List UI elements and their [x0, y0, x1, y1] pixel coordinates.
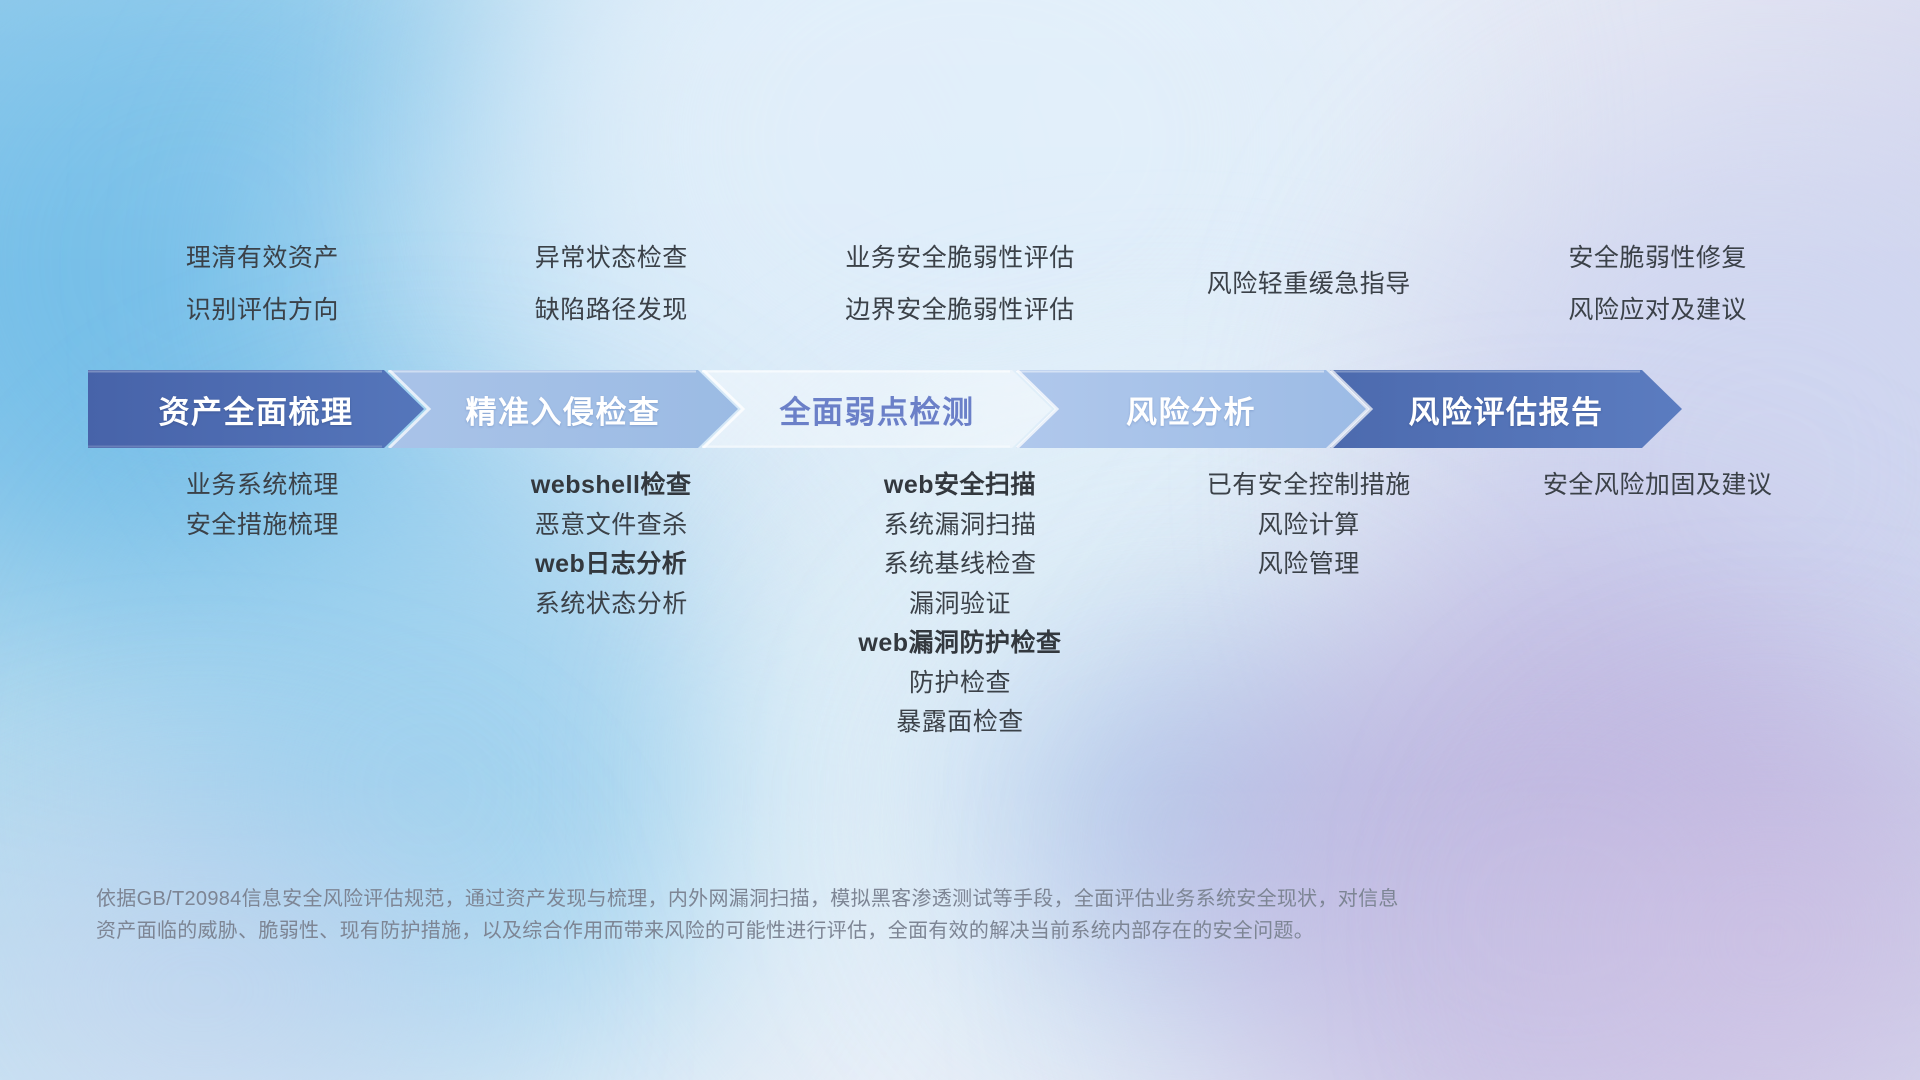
stage-1-bottom-item: 安全措施梳理	[186, 506, 339, 546]
stage-arrow-5-label: 风险评估报告	[1409, 387, 1604, 432]
stage-1-bottom-item: 业务系统梳理	[186, 466, 339, 506]
stage-3-top-item: 业务安全脆弱性评估	[845, 232, 1075, 284]
stage-arrow-4-label: 风险分析	[1126, 387, 1256, 432]
stage-1-bottom-list: 业务系统梳理 安全措施梳理	[88, 466, 437, 545]
stage-4-bottom-item: 风险计算	[1258, 506, 1360, 546]
stage-2-bottom-list: webshell检查 恶意文件查杀 web日志分析 系统状态分析	[437, 466, 786, 624]
stage-4-bottom-list: 已有安全控制措施 风险计算 风险管理	[1134, 466, 1483, 585]
stage-3-bottom-item: 暴露面检查	[896, 703, 1024, 743]
stage-2-top-list: 异常状态检查 缺陷路径发现	[437, 232, 786, 358]
footer-description: 依据GB/T20984信息安全风险评估规范，通过资产发现与梳理，内外网漏洞扫描，…	[96, 883, 1616, 947]
stage-3-top-list: 业务安全脆弱性评估 边界安全脆弱性评估	[786, 232, 1135, 358]
stage-arrow-2[interactable]: 精准入侵检查	[388, 370, 738, 448]
stage-2-bottom-item: webshell检查	[531, 466, 692, 506]
stage-3-top-item: 边界安全脆弱性评估	[845, 284, 1075, 336]
stage-arrow-1[interactable]: 资产全面梳理	[88, 370, 424, 448]
stage-1-top-list: 理清有效资产 识别评估方向	[88, 232, 437, 358]
stage-2-top-item: 异常状态检查	[535, 232, 688, 284]
stage-1-top-item: 理清有效资产	[186, 232, 339, 284]
stage-5-top-list: 安全脆弱性修复 风险应对及建议	[1483, 232, 1832, 358]
stage-2-bottom-item: 恶意文件查杀	[535, 506, 688, 546]
stage-4-bottom-item: 风险管理	[1258, 545, 1360, 585]
stage-arrow-4[interactable]: 风险分析	[1016, 370, 1366, 448]
stage-3-bottom-item: 漏洞验证	[909, 585, 1011, 625]
process-arrow-band: 资产全面梳理 精准入侵检查	[88, 370, 1832, 448]
stage-5-top-item: 风险应对及建议	[1568, 284, 1747, 336]
footer-line-1: 依据GB/T20984信息安全风险评估规范，通过资产发现与梳理，内外网漏洞扫描，…	[96, 883, 1616, 915]
stage-2-bottom-item: web日志分析	[535, 545, 687, 585]
stage-arrow-3[interactable]: 全面弱点检测	[702, 370, 1052, 448]
stage-3-bottom-item: web安全扫描	[884, 466, 1036, 506]
footer-line-2: 资产面临的威胁、脆弱性、现有防护措施，以及综合作用而带来风险的可能性进行评估，全…	[96, 915, 1616, 947]
stage-3-bottom-item: 防护检查	[909, 664, 1011, 704]
stage-4-top-item: 风险轻重缓急指导	[1207, 232, 1411, 336]
stage-4-top-list: 风险轻重缓急指导	[1134, 232, 1483, 358]
stage-arrow-1-label: 资产全面梳理	[159, 387, 354, 432]
stage-1-top-item: 识别评估方向	[186, 284, 339, 336]
stage-2-bottom-item: 系统状态分析	[535, 585, 688, 625]
stage-5-top-item: 安全脆弱性修复	[1568, 232, 1747, 284]
stage-2-top-item: 缺陷路径发现	[535, 284, 688, 336]
stage-3-bottom-item: 系统基线检查	[883, 545, 1036, 585]
stage-3-bottom-list: web安全扫描 系统漏洞扫描 系统基线检查 漏洞验证 web漏洞防护检查 防护检…	[786, 466, 1135, 743]
stage-3-bottom-item: 系统漏洞扫描	[883, 506, 1036, 546]
stage-arrow-2-label: 精准入侵检查	[466, 387, 661, 432]
stage-3-bottom-item: web漏洞防护检查	[858, 624, 1061, 664]
stage-5-bottom-list: 安全风险加固及建议	[1483, 466, 1832, 506]
stage-4-bottom-item: 已有安全控制措施	[1207, 466, 1411, 506]
stage-arrow-5[interactable]: 风险评估报告	[1330, 370, 1682, 448]
stage-arrow-3-label: 全面弱点检测	[780, 387, 975, 432]
stage-5-bottom-item: 安全风险加固及建议	[1543, 466, 1773, 506]
